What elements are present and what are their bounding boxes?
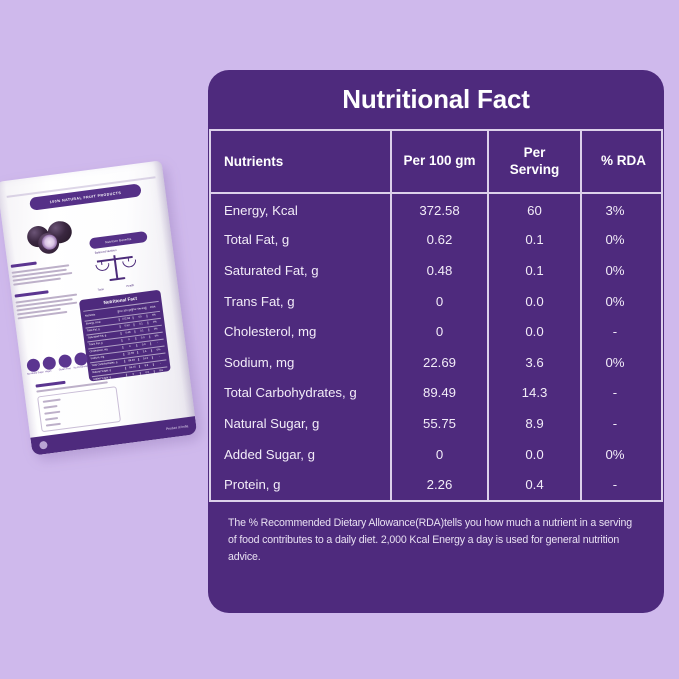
column-header-per-100gm: Per 100 gm bbox=[391, 131, 488, 192]
cell-per-100gm: 372.58 bbox=[391, 194, 488, 225]
no-preservatives-icon bbox=[74, 352, 89, 367]
table-row: Natural Sugar, g55.758.9- bbox=[209, 408, 664, 439]
package-nutrition-table: Nutritional Fact Nutrients Per 100 gm Pe… bbox=[79, 290, 171, 382]
cell-nutrient: Saturated Fat, g bbox=[209, 255, 391, 286]
balance-scale-icon bbox=[93, 249, 139, 288]
cell-rda: - bbox=[581, 378, 664, 409]
cell-per-serving: 0.0 bbox=[488, 439, 581, 470]
nutrition-table-wrapper: Nutrients Per 100 gm Per Serving % RDA bbox=[208, 131, 664, 192]
cell-nutrient: Natural Sugar, g bbox=[209, 408, 391, 439]
table-row: Total Carbohydrates, g89.4914.3- bbox=[209, 378, 664, 409]
cell-per-100gm: 22.69 bbox=[391, 347, 488, 378]
cell-per-serving: 8.9 bbox=[488, 408, 581, 439]
package-cell-per-serving: 0.4 bbox=[141, 377, 155, 382]
cell-per-serving: 0.1 bbox=[488, 255, 581, 286]
cell-per-serving: 3.6 bbox=[488, 347, 581, 378]
cell-per-100gm: 0 bbox=[391, 316, 488, 347]
icon-label-2: Vegan bbox=[45, 371, 52, 374]
cell-rda: 0% bbox=[581, 255, 664, 286]
scale-pan-left bbox=[95, 263, 110, 272]
cell-nutrient: Total Carbohydrates, g bbox=[209, 378, 391, 409]
cell-per-serving: 60 bbox=[488, 194, 581, 225]
table-row: Added Sugar, g00.00% bbox=[209, 439, 664, 470]
no-added-sugar-icon bbox=[26, 358, 41, 373]
package-cell-per-serving: 0.0 bbox=[140, 370, 154, 375]
table-row: Total Fat, g0.620.10% bbox=[209, 225, 664, 256]
gluten-free-icon bbox=[58, 354, 73, 369]
package-usage-box bbox=[37, 386, 121, 432]
cell-rda: 3% bbox=[581, 194, 664, 225]
rda-footnote: The % Recommended Dietary Allowance(RDA)… bbox=[208, 502, 664, 566]
package-usage-line bbox=[43, 405, 57, 409]
vegan-icon bbox=[42, 356, 57, 371]
nutrition-facts-table: Nutrients Per 100 gm Per Serving % RDA bbox=[209, 131, 664, 192]
package-usage-line bbox=[46, 423, 61, 427]
cell-rda: 0% bbox=[581, 347, 664, 378]
nutrition-facts-body-table: Energy, Kcal372.58603%Total Fat, g0.620.… bbox=[209, 194, 664, 500]
cell-rda: 0% bbox=[581, 225, 664, 256]
table-row: Protein, g2.260.4- bbox=[209, 469, 664, 500]
package-usage-line bbox=[44, 411, 60, 415]
package-cell-per-100gm: 0 bbox=[126, 372, 140, 377]
per-serving-line1: Per bbox=[524, 145, 546, 160]
cell-per-serving: 0.0 bbox=[488, 286, 581, 317]
icon-label-3: Gluten Free bbox=[59, 368, 71, 372]
cell-rda: 0% bbox=[581, 286, 664, 317]
table-row: Sodium, mg22.693.60% bbox=[209, 347, 664, 378]
package-benefits-pill: Nutrition Benefits bbox=[89, 231, 148, 249]
nutritional-fact-card: Nutritional Fact Nutrients Per 100 gm Pe… bbox=[208, 70, 664, 613]
cell-per-100gm: 0 bbox=[391, 286, 488, 317]
table-body: Energy, Kcal372.58603%Total Fat, g0.620.… bbox=[209, 194, 664, 500]
berry-fruit-icon bbox=[24, 217, 76, 257]
package-brand-banner: 100% NATURAL FRUIT PRODUCTS bbox=[29, 183, 142, 211]
per-serving-line2: Serving bbox=[510, 162, 560, 177]
cell-nutrient: Total Fat, g bbox=[209, 225, 391, 256]
cell-per-100gm: 55.75 bbox=[391, 408, 488, 439]
cell-nutrient: Energy, Kcal bbox=[209, 194, 391, 225]
cell-per-serving: 0.4 bbox=[488, 469, 581, 500]
cell-per-100gm: 0.62 bbox=[391, 225, 488, 256]
scale-caption-left: Taste bbox=[97, 288, 104, 292]
table-row: Trans Fat, g00.00% bbox=[209, 286, 664, 317]
nutrition-table-body-wrapper: Energy, Kcal372.58603%Total Fat, g0.620.… bbox=[208, 194, 664, 500]
table-row: Energy, Kcal372.58603% bbox=[209, 194, 664, 225]
table-header-row: Nutrients Per 100 gm Per Serving % RDA bbox=[209, 131, 664, 192]
table-row: Cholesterol, mg00.0- bbox=[209, 316, 664, 347]
product-package-photo: 100% NATURAL FRUIT PRODUCTS Nutrition Be… bbox=[0, 160, 197, 455]
cell-nutrient: Trans Fat, g bbox=[209, 286, 391, 317]
package-col-rda: RDA bbox=[145, 304, 159, 309]
cell-nutrient: Added Sugar, g bbox=[209, 439, 391, 470]
package-bottom-right-text: Product of India bbox=[166, 424, 189, 431]
icon-label-1: No Added Sugar bbox=[27, 372, 44, 376]
package-banner-text: 100% NATURAL FRUIT PRODUCTS bbox=[49, 190, 121, 203]
cell-rda: - bbox=[581, 316, 664, 347]
cell-rda: 0% bbox=[581, 439, 664, 470]
cell-per-serving: 0.0 bbox=[488, 316, 581, 347]
table-row: Saturated Fat, g0.480.10% bbox=[209, 255, 664, 286]
cell-rda: - bbox=[581, 408, 664, 439]
package-cell-rda: - bbox=[155, 375, 169, 380]
package-benefits-pill-text: Nutrition Benefits bbox=[105, 236, 132, 243]
cell-nutrient: Cholesterol, mg bbox=[209, 316, 391, 347]
package-cell-nutrient: Added Sugar, g bbox=[92, 374, 126, 381]
column-header-rda: % RDA bbox=[581, 131, 664, 192]
scale-pan-right bbox=[122, 259, 137, 268]
cell-per-serving: 0.1 bbox=[488, 225, 581, 256]
scale-base bbox=[109, 277, 125, 281]
scale-caption-right: Health bbox=[126, 284, 134, 288]
page-title: Nutritional Fact bbox=[208, 70, 664, 129]
package-cell-rda: 0% bbox=[154, 368, 168, 373]
cell-per-100gm: 2.26 bbox=[391, 469, 488, 500]
package-col-per100: Per 100 gm bbox=[117, 308, 131, 313]
cell-per-100gm: 0.48 bbox=[391, 255, 488, 286]
package-certification-icons: No Added Sugar Vegan Gluten Free No Pres… bbox=[24, 350, 90, 380]
package-nutrition-grid: Nutrients Per 100 gm Per Serving RDA Ene… bbox=[80, 300, 171, 382]
cell-nutrient: Protein, g bbox=[209, 469, 391, 500]
package-col-serving: Per Serving bbox=[131, 306, 145, 311]
cell-per-serving: 14.3 bbox=[488, 378, 581, 409]
package-cell-per-100gm: 2.26 bbox=[127, 379, 141, 382]
cell-nutrient: Sodium, mg bbox=[209, 347, 391, 378]
column-header-per-serving: Per Serving bbox=[488, 131, 581, 192]
icon-label-4: No Preservatives bbox=[74, 365, 92, 369]
package-nutrition-rows: Energy, Kcal372.58603%Total Fat, g0.620.… bbox=[84, 310, 168, 381]
column-header-nutrients: Nutrients bbox=[209, 131, 391, 192]
cell-per-100gm: 0 bbox=[391, 439, 488, 470]
table-header: Nutrients Per 100 gm Per Serving % RDA bbox=[209, 131, 664, 192]
package-usage-line bbox=[45, 417, 58, 420]
cell-rda: - bbox=[581, 469, 664, 500]
package-usage-line bbox=[43, 399, 61, 403]
cell-per-100gm: 89.49 bbox=[391, 378, 488, 409]
fssai-logo-icon bbox=[39, 441, 48, 450]
